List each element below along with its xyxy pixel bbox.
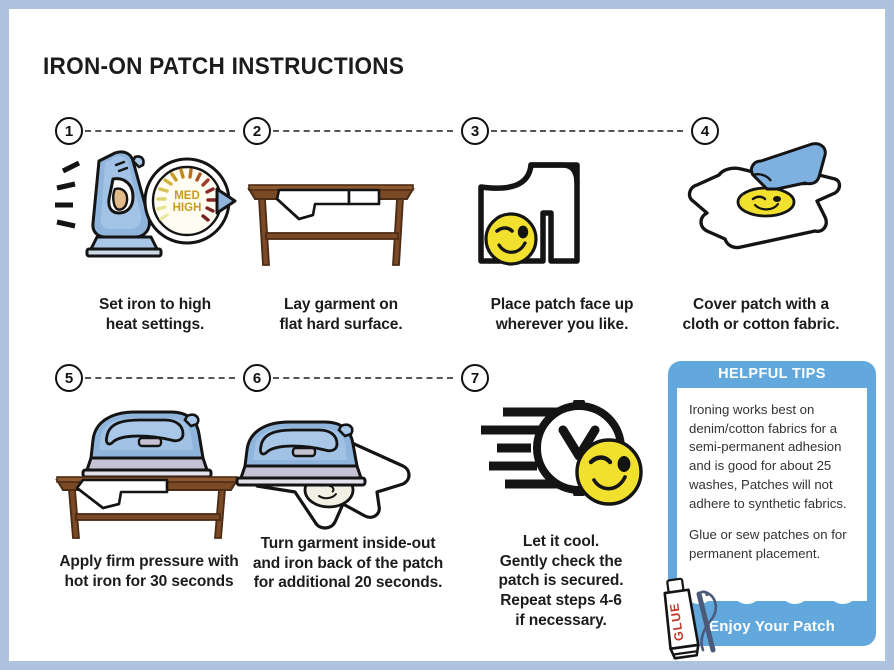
step-2-illustration xyxy=(237,157,427,272)
step-3-number: 3 xyxy=(461,117,489,145)
step-2-caption-line-1: Lay garment on xyxy=(231,295,451,315)
step-4-illustration xyxy=(649,139,869,274)
step-connector-2-3 xyxy=(273,130,453,132)
smiley-patch-icon xyxy=(577,440,641,504)
glue-tube-with-needle-icon: GLUE xyxy=(659,572,739,664)
iron-with-temperature-dial-icon: MED HIGH xyxy=(53,143,243,268)
step-7-caption: Let it cool. Gently check the patch is s… xyxy=(439,532,683,630)
step-7-caption-line-4: Repeat steps 4-6 xyxy=(439,591,683,611)
step-7-caption-line-2: Gently check the xyxy=(439,552,683,572)
step-2-caption: Lay garment on flat hard surface. xyxy=(231,295,451,334)
step-1-number: 1 xyxy=(55,117,83,145)
step-7-caption-line-5: if necessary. xyxy=(439,611,683,631)
shirt-covered-with-cloth-icon xyxy=(649,139,869,274)
page-inner: IRON-ON PATCH INSTRUCTIONS 1 xyxy=(9,9,885,661)
shirt-with-smiley-patch-icon xyxy=(467,143,647,273)
smiley-patch-icon xyxy=(738,188,794,216)
helpful-tips-paragraph-2: Glue or sew patches on for permanent pla… xyxy=(689,526,855,563)
helpful-tips-header: HELPFUL TIPS xyxy=(668,361,876,387)
infographic-page: IRON-ON PATCH INSTRUCTIONS 1 xyxy=(0,0,894,670)
smiley-patch-icon xyxy=(486,214,536,264)
step-6-number: 6 xyxy=(243,364,271,392)
page-title: IRON-ON PATCH INSTRUCTIONS xyxy=(43,53,404,81)
dial-label-med: MED xyxy=(174,190,200,202)
step-2-caption-line-2: flat hard surface. xyxy=(231,315,451,335)
dial-label-high: HIGH xyxy=(173,202,202,214)
step-5-number: 5 xyxy=(55,364,83,392)
step-4-caption: Cover patch with a cloth or cotton fabri… xyxy=(639,295,883,334)
steps-row-top: 1 xyxy=(9,117,885,347)
step-5-illustration xyxy=(47,396,247,541)
step-7-illustration xyxy=(475,398,655,508)
iron-on-inside-out-garment-icon xyxy=(225,394,445,534)
step-7-caption-line-3: patch is secured. xyxy=(439,571,683,591)
step-7-caption-line-1: Let it cool. xyxy=(439,532,683,552)
step-3-illustration xyxy=(467,143,647,273)
step-7-number: 7 xyxy=(461,364,489,392)
helpful-tips-body: Ironing works best on denim/cotton fabri… xyxy=(677,388,867,601)
step-connector-3-4 xyxy=(491,130,683,132)
step-4-caption-line-1: Cover patch with a xyxy=(639,295,883,315)
step-1-illustration: MED HIGH xyxy=(53,143,243,268)
step-2-number: 2 xyxy=(243,117,271,145)
fast-clock-with-smiley-icon xyxy=(475,398,655,508)
step-6-illustration xyxy=(225,394,445,534)
step-4-caption-line-2: cloth or cotton fabric. xyxy=(639,315,883,335)
step-4-number: 4 xyxy=(691,117,719,145)
step-connector-5-6 xyxy=(85,377,235,379)
step-connector-6-7 xyxy=(273,377,453,379)
iron-pressing-on-table-icon xyxy=(47,396,247,541)
table-with-garment-icon xyxy=(237,157,427,272)
step-connector-1-2 xyxy=(85,130,235,132)
helpful-tips-paragraph-1: Ironing works best on denim/cotton fabri… xyxy=(689,401,855,513)
